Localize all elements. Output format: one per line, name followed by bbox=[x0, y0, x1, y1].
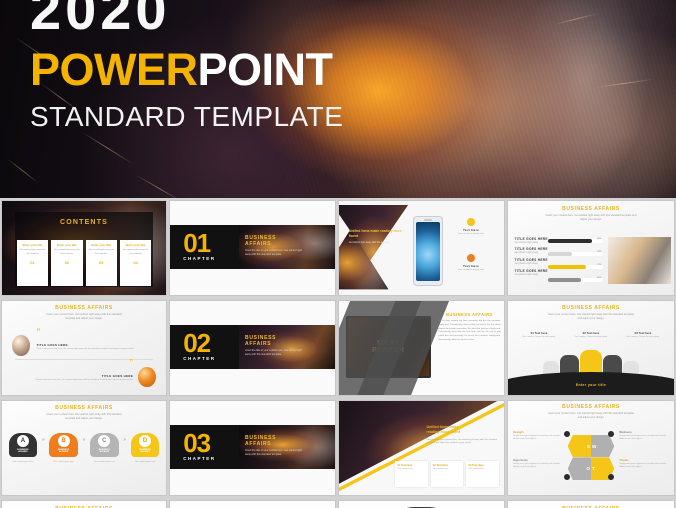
device-heading: Unified fonts make reading more fluent bbox=[349, 229, 405, 239]
slide-subtitle: Insert your content here. Get started ri… bbox=[548, 313, 634, 321]
quote-body: Please insert your text here. Get starte… bbox=[18, 379, 133, 382]
slide-cell[interactable]: 02 CHAPTER BUSINESS AFFAIRS Insert the t… bbox=[168, 298, 337, 398]
slide-subtitle: Insert your content here. Get started ri… bbox=[41, 413, 126, 421]
chapter-band: 03 CHAPTER BUSINESS AFFAIRS Insert the t… bbox=[170, 425, 335, 468]
slide-thumb-partial-1[interactable]: BUSINESS AFFAIRS Insert your content her… bbox=[2, 501, 166, 508]
feature-icon bbox=[467, 218, 475, 226]
swot-text-opportunity: Opportunity Simply insert your fragment … bbox=[513, 459, 563, 469]
progress-track: 45% bbox=[548, 252, 603, 256]
slide-thumbnail-grid: CONTENTS Enter your title Get started ri… bbox=[0, 198, 676, 508]
step-separator-icon: » bbox=[120, 433, 129, 447]
slide-title: BUSINESS AFFAIRS bbox=[508, 206, 674, 212]
swot-badge-icon bbox=[608, 474, 614, 480]
contents-card[interactable]: Enter your title Get started right away … bbox=[120, 240, 151, 285]
diagonal-card[interactable]: 01 Text Here Your content here bbox=[395, 461, 428, 487]
hero-banner: 2020 POWERPOINT STANDARD TEMPLATE bbox=[0, 0, 676, 198]
contents-card[interactable]: Enter your title Get started right away … bbox=[86, 240, 117, 285]
contents-card-number: 02 bbox=[65, 260, 69, 265]
diagonal-card-body: Your content here bbox=[433, 468, 462, 471]
step-separator-icon: » bbox=[79, 433, 88, 447]
chapter-band: 02 CHAPTER BUSINESS AFFAIRS Insert the t… bbox=[170, 325, 335, 368]
chapter-body: Insert the title of your subtitle here. … bbox=[245, 449, 302, 457]
slide-thumb-diagonal-cards[interactable]: Unified fonts make reading more fluent P… bbox=[339, 401, 504, 495]
swot-letter: S bbox=[587, 444, 590, 449]
progress-fill bbox=[548, 239, 592, 243]
slide-title: BUSINESS AFFAIRS bbox=[508, 404, 674, 410]
swot-body: Simply insert your fragment to currently… bbox=[619, 463, 669, 469]
slide-thumb-partial-2[interactable] bbox=[170, 501, 335, 508]
slide-cell[interactable]: 01 CHAPTER BUSINESS AFFAIRS Insert the t… bbox=[168, 198, 337, 298]
slide-cell[interactable]: BUSINESS AFFAIRS Insert your content her… bbox=[0, 298, 168, 398]
profile-heading: BUSINESS AFFAIRS bbox=[438, 312, 501, 317]
slide-thumb-chapter-02[interactable]: 02 CHAPTER BUSINESS AFFAIRS Insert the t… bbox=[170, 301, 335, 395]
slide-cell[interactable]: BUSINESS AFFAIRS Insert your content her… bbox=[506, 398, 676, 498]
team-body: Your content. Choose the best option. bbox=[565, 336, 617, 339]
progress-track: 80% bbox=[548, 239, 603, 243]
step-letter: D bbox=[139, 435, 151, 447]
swot-text-threats: Threats Simply insert your fragment to c… bbox=[619, 459, 669, 469]
swot-quadrant-w: W bbox=[591, 435, 614, 458]
swot-label: Strength bbox=[513, 431, 563, 434]
page-title: POWERPOINT bbox=[30, 46, 343, 95]
slide-subtitle: Insert your content here. Get started ri… bbox=[45, 313, 124, 321]
progress-fill bbox=[548, 265, 586, 269]
swot-badge-icon bbox=[608, 431, 614, 437]
swot-letter: T bbox=[592, 466, 595, 471]
slide-title bbox=[170, 501, 335, 506]
diagonal-body: Please insert your content here. Get sta… bbox=[426, 439, 499, 446]
chapter-artwork: BUSINESS AFFAIRS Insert the title of you… bbox=[239, 225, 335, 268]
slide-thumb-chapter-01[interactable]: 01 CHAPTER BUSINESS AFFAIRS Insert the t… bbox=[170, 201, 335, 295]
contents-card-heading: Enter your title bbox=[53, 243, 80, 247]
diagonal-card[interactable]: 02 Text Here Your content here bbox=[431, 461, 464, 487]
slide-thumb-progress-bars[interactable]: BUSINESS AFFAIRS Insert your content her… bbox=[508, 201, 674, 295]
swot-quadrant-o: O bbox=[568, 457, 591, 480]
contents-card-body: Get started right away with this templat… bbox=[53, 249, 80, 256]
team-column: 03 Text here Your content. Choose the be… bbox=[617, 331, 669, 339]
progress-track: 70% bbox=[548, 265, 603, 269]
slide-thumb-contents[interactable]: CONTENTS Enter your title Get started ri… bbox=[2, 201, 166, 295]
diagonal-card-label: 03 Text Here bbox=[468, 464, 497, 467]
diagonal-card-body: Your content here bbox=[468, 468, 497, 471]
chapter-number: 02 bbox=[183, 333, 215, 354]
chapter-heading: BUSINESS AFFAIRS bbox=[245, 235, 302, 247]
slide-thumb-team[interactable]: BUSINESS AFFAIRS Insert your content her… bbox=[508, 301, 674, 395]
contents-title: CONTENTS bbox=[60, 219, 108, 226]
phone-mockup bbox=[413, 216, 443, 286]
team-body: Your content. Choose the best option. bbox=[513, 336, 565, 339]
slide-cell[interactable]: 03 CHAPTER BUSINESS AFFAIRS Insert the t… bbox=[168, 398, 337, 498]
quote-avatar bbox=[138, 367, 156, 388]
swot-label: Weakness bbox=[619, 431, 669, 434]
slide-thumb-chapter-03[interactable]: 03 CHAPTER BUSINESS AFFAIRS Insert the t… bbox=[170, 401, 335, 495]
step-label: BUSINESS AFFAIRS bbox=[90, 449, 119, 453]
feature-body: Your content to display here bbox=[443, 269, 499, 272]
slide-cell[interactable]: BUSINESS AFFAIRS Insert your content her… bbox=[506, 498, 676, 508]
feature-item: Text Here Your content to display here bbox=[443, 254, 499, 272]
diagonal-card-label: 02 Text Here bbox=[433, 464, 462, 467]
hero-text-block: 2020 POWERPOINT STANDARD TEMPLATE bbox=[30, 0, 343, 133]
progress-fill bbox=[548, 278, 581, 282]
contents-card-heading: Enter your title bbox=[19, 243, 46, 247]
step-item: D BUSINESS AFFAIRS Your content goes her… bbox=[131, 433, 160, 464]
team-label: 03 Text here bbox=[617, 331, 669, 335]
contents-card-body: Get started right away with this templat… bbox=[19, 249, 46, 256]
chapter-artwork: BUSINESS AFFAIRS Insert the title of you… bbox=[239, 325, 335, 368]
open-quote-icon: “ bbox=[36, 330, 40, 335]
swot-text-strength: Strength Simply insert your fragment to … bbox=[513, 431, 563, 441]
swot-body: Simply insert your fragment to currently… bbox=[513, 435, 563, 441]
slide-cell[interactable]: BUSINESS AFFAIRS Insert your content her… bbox=[506, 198, 676, 298]
progress-photo bbox=[608, 237, 671, 284]
diagonal-card[interactable]: 03 Text Here Your content here bbox=[466, 461, 499, 487]
slide-thumb-abcd-steps[interactable]: BUSINESS AFFAIRS Insert your content her… bbox=[2, 401, 166, 495]
contents-card-number: 01 bbox=[30, 260, 34, 265]
team-column: 01 Text here Your content. Choose the be… bbox=[513, 331, 565, 339]
contents-card-heading: Enter your title bbox=[88, 243, 115, 247]
slide-title: BUSINESS AFFAIRS bbox=[2, 305, 166, 311]
progress-track: 60% bbox=[548, 278, 603, 282]
slide-cell[interactable]: CONTENTS Enter your title Get started ri… bbox=[0, 198, 168, 298]
step-label: BUSINESS AFFAIRS bbox=[49, 449, 78, 453]
team-label: 02 Text here bbox=[565, 331, 617, 335]
slide-cell[interactable] bbox=[337, 498, 506, 508]
chapter-body: Insert the title of your subtitle here. … bbox=[245, 349, 302, 357]
slide-title: BUSINESS AFFAIRS bbox=[508, 305, 674, 311]
diagonal-card-label: 01 Text Here bbox=[397, 464, 426, 467]
swot-letter: W bbox=[592, 444, 596, 449]
slide-subtitle: Insert your content here. Get started ri… bbox=[548, 412, 634, 420]
chapter-band: 01 CHAPTER BUSINESS AFFAIRS Insert the t… bbox=[170, 225, 335, 268]
team-body: Your content. Choose the best option. bbox=[617, 336, 669, 339]
swot-label: Opportunity bbox=[513, 459, 563, 462]
chapter-number-block: 03 CHAPTER bbox=[170, 425, 239, 468]
feature-item: Text Here Your content to display here bbox=[443, 218, 499, 236]
team-label: 01 Text here bbox=[513, 331, 565, 335]
slide-title: BUSINESS AFFAIRS bbox=[2, 405, 166, 411]
swot-body: Simply insert your fragment to currently… bbox=[619, 435, 669, 441]
step-item: A BUSINESS AFFAIRS Your content goes her… bbox=[9, 433, 38, 464]
step-separator-icon: » bbox=[39, 433, 48, 447]
contents-card-body: Get started right away with this templat… bbox=[122, 249, 149, 256]
progress-value: 80% bbox=[597, 238, 601, 240]
slide-cell[interactable]: BUSINESS AFFAIRS Insert your content her… bbox=[0, 498, 168, 508]
template-preview-page: 2020 POWERPOINT STANDARD TEMPLATE CONTEN… bbox=[0, 0, 676, 508]
contents-card[interactable]: Enter your title Get started right away … bbox=[17, 240, 48, 285]
slide-thumb-quote[interactable]: BUSINESS AFFAIRS Insert your content her… bbox=[2, 301, 166, 395]
hero-title-gold: POWER bbox=[30, 44, 198, 95]
close-quote-icon: ” bbox=[129, 361, 133, 366]
progress-fill bbox=[548, 252, 573, 256]
diagonal-card-body: Your content here bbox=[397, 468, 426, 471]
chapter-heading: BUSINESS AFFAIRS bbox=[245, 435, 302, 447]
swot-badge-icon bbox=[564, 474, 570, 480]
chapter-artwork: BUSINESS AFFAIRS Insert the title of you… bbox=[239, 425, 335, 468]
chapter-word: CHAPTER bbox=[183, 456, 215, 461]
step-label: BUSINESS AFFAIRS bbox=[131, 449, 160, 453]
contents-card-number: 03 bbox=[99, 260, 103, 265]
contents-card-number: 04 bbox=[133, 260, 137, 265]
chapter-body: Insert the title of your subtitle here. … bbox=[245, 249, 302, 257]
chapter-word: CHAPTER bbox=[183, 256, 215, 261]
team-banner: Enter your title bbox=[508, 372, 674, 395]
step-body: Your content goes here bbox=[90, 461, 119, 464]
chapter-number-block: 02 CHAPTER bbox=[170, 325, 239, 368]
feature-label: Text Here bbox=[443, 228, 499, 232]
chapter-number: 01 bbox=[183, 233, 215, 254]
team-column: 02 Text here Your content. Choose the be… bbox=[565, 331, 617, 339]
slide-thumb-swot[interactable]: BUSINESS AFFAIRS Insert your content her… bbox=[508, 401, 674, 495]
step-label: BUSINESS AFFAIRS bbox=[9, 449, 38, 453]
step-letter: C bbox=[98, 435, 110, 447]
step-letter: A bbox=[17, 435, 29, 447]
diagonal-heading-line2: reading more fluent bbox=[426, 430, 499, 435]
contents-card-body: Get started right away with this templat… bbox=[88, 249, 115, 256]
step-body: Your content goes here bbox=[9, 461, 38, 464]
step-body: Your content goes here bbox=[49, 461, 78, 464]
swot-text-weakness: Weakness Simply insert your fragment to … bbox=[619, 431, 669, 441]
chapter-number: 03 bbox=[183, 433, 215, 454]
progress-value: 45% bbox=[597, 251, 601, 253]
profile-body: Put all your content the here presently,… bbox=[438, 320, 501, 342]
chapter-heading: BUSINESS AFFAIRS bbox=[245, 335, 302, 347]
quote-avatar bbox=[12, 335, 30, 356]
device-body: Get started right away with this templat… bbox=[349, 242, 405, 246]
swot-badge-icon bbox=[564, 431, 570, 437]
swot-quadrant-s: S bbox=[568, 435, 591, 458]
feature-body: Your content to display here bbox=[443, 233, 499, 236]
swot-letter: O bbox=[586, 466, 590, 471]
feature-label: Text Here bbox=[443, 264, 499, 268]
hero-year: 2020 bbox=[30, 0, 343, 38]
slide-cell[interactable]: Unified fonts make reading more fluent G… bbox=[337, 198, 506, 298]
quote-body: Please insert your text here. Get starte… bbox=[36, 348, 154, 351]
slide-thumb-partial-3[interactable] bbox=[339, 501, 504, 508]
progress-value: 70% bbox=[597, 264, 601, 266]
step-letter: B bbox=[58, 435, 70, 447]
chapter-word: CHAPTER bbox=[183, 356, 215, 361]
step-item: B BUSINESS AFFAIRS Your content goes her… bbox=[49, 433, 78, 464]
step-body: Your content goes here bbox=[131, 461, 160, 464]
progress-value: 60% bbox=[597, 277, 601, 279]
swot-body: Simply insert your fragment to currently… bbox=[513, 463, 563, 469]
swot-label: Threats bbox=[619, 459, 669, 462]
slide-cell[interactable]: MARY PARKER BUSINESS AFFAIRS Put all you… bbox=[337, 298, 506, 398]
step-item: C BUSINESS AFFAIRS Your content goes her… bbox=[90, 433, 119, 464]
slide-cell[interactable]: BUSINESS AFFAIRS Insert your content her… bbox=[0, 398, 168, 498]
quote-label: TITLE GOES HERE bbox=[18, 374, 133, 378]
slide-cell[interactable]: Unified fonts make reading more fluent P… bbox=[337, 398, 506, 498]
slide-subtitle: Insert your content here. Get started ri… bbox=[545, 214, 638, 222]
slide-cell[interactable]: BUSINESS AFFAIRS Insert your content her… bbox=[506, 298, 676, 398]
feature-icon bbox=[467, 254, 475, 262]
contents-card[interactable]: Enter your title Get started right away … bbox=[51, 240, 82, 285]
slide-thumb-profile[interactable]: MARY PARKER BUSINESS AFFAIRS Put all you… bbox=[339, 301, 504, 395]
slide-cell[interactable] bbox=[168, 498, 337, 508]
hero-subtitle: STANDARD TEMPLATE bbox=[30, 101, 343, 133]
team-banner-label: Enter your title bbox=[576, 383, 606, 387]
quote-label: TITLE GOES HERE bbox=[36, 343, 154, 347]
chapter-number-block: 01 CHAPTER bbox=[170, 225, 239, 268]
contents-card-heading: Enter your title bbox=[122, 243, 149, 247]
slide-thumb-mobile-feature[interactable]: Unified fonts make reading more fluent G… bbox=[339, 201, 504, 295]
slide-thumb-partial-4[interactable]: BUSINESS AFFAIRS Insert your content her… bbox=[508, 501, 674, 508]
hero-title-white: POINT bbox=[198, 44, 333, 95]
